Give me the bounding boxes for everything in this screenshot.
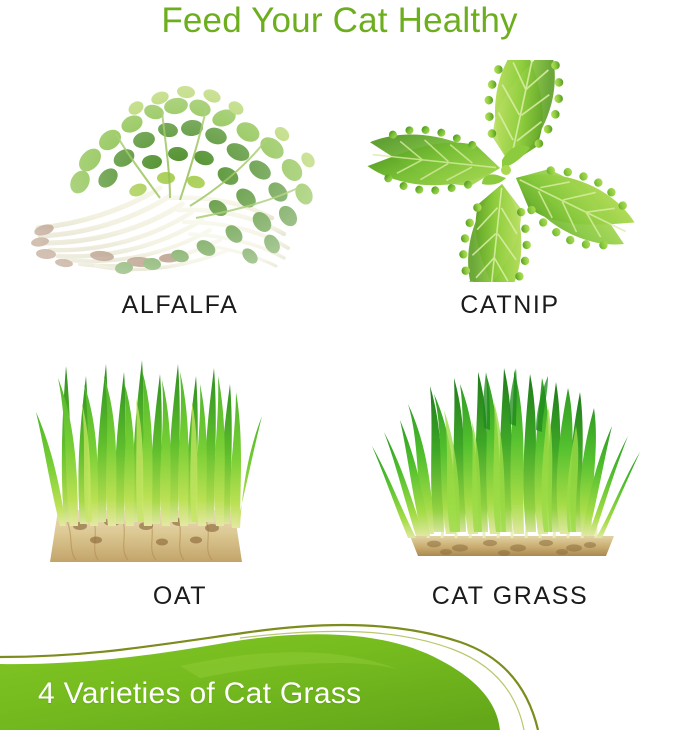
- banner-caption: 4 Varieties of Cat Grass: [38, 677, 361, 711]
- variety-card-alfalfa: ALFALFA: [20, 78, 340, 328]
- catnip-leaf-right: [500, 145, 645, 265]
- cat-grass-photo: [350, 360, 670, 572]
- variety-card-cat-grass: CAT GRASS: [350, 360, 670, 618]
- alfalfa-sprouts-photo: [20, 78, 340, 283]
- bottom-banner: 4 Varieties of Cat Grass: [0, 618, 679, 730]
- banner-wave-shape: [0, 618, 679, 730]
- catnip-leaf-left: [365, 120, 503, 201]
- variety-card-oat: OAT: [20, 350, 340, 618]
- product-infographic: Feed Your Cat Healthy: [0, 0, 679, 730]
- variety-label-alfalfa: ALFALFA: [20, 291, 340, 320]
- variety-label-catnip: CATNIP: [350, 291, 670, 320]
- catnip-stem-node: [501, 165, 511, 175]
- catnip-leaves-photo: [350, 60, 670, 282]
- variety-label-cat-grass: CAT GRASS: [350, 582, 670, 611]
- page-title: Feed Your Cat Healthy: [0, 0, 679, 42]
- variety-card-catnip: CATNIP: [350, 60, 670, 328]
- variety-label-oat: OAT: [20, 582, 340, 611]
- oat-grass-photo: [20, 350, 340, 572]
